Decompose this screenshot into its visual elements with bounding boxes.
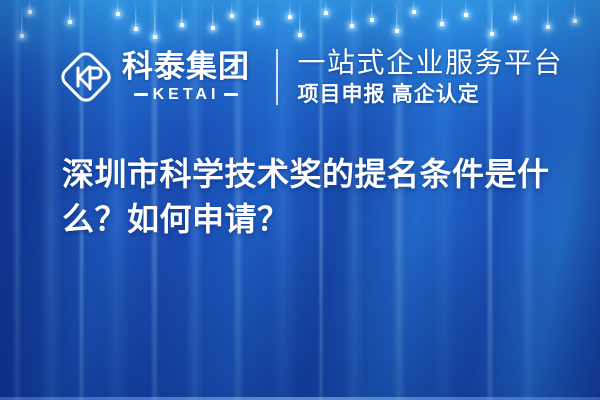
tagline-block: 一站式企业服务平台 项目申报 高企认定: [298, 46, 564, 107]
header-divider: [276, 49, 278, 105]
brand-name-en-row: KETAI: [122, 87, 250, 103]
dash-left-icon: [134, 93, 148, 96]
promo-banner: 科泰集团 KETAI 一站式企业服务平台 项目申报 高企认定 深圳市科学技术奖的…: [0, 0, 600, 400]
brand-name-en: KETAI: [153, 87, 220, 103]
brand-wordmark: 科泰集团 KETAI: [122, 51, 250, 103]
tagline-secondary: 项目申报 高企认定: [298, 82, 564, 107]
tagline-primary: 一站式企业服务平台: [298, 46, 564, 79]
banner-headline: 深圳市科学技术奖的提名条件是什么？如何申请？: [62, 152, 562, 243]
banner-header: 科泰集团 KETAI 一站式企业服务平台 项目申报 高企认定: [60, 44, 563, 110]
dash-right-icon: [224, 93, 238, 96]
kp-diamond-monogram-icon: [60, 51, 112, 103]
brand-name-cn: 科泰集团: [122, 51, 250, 84]
